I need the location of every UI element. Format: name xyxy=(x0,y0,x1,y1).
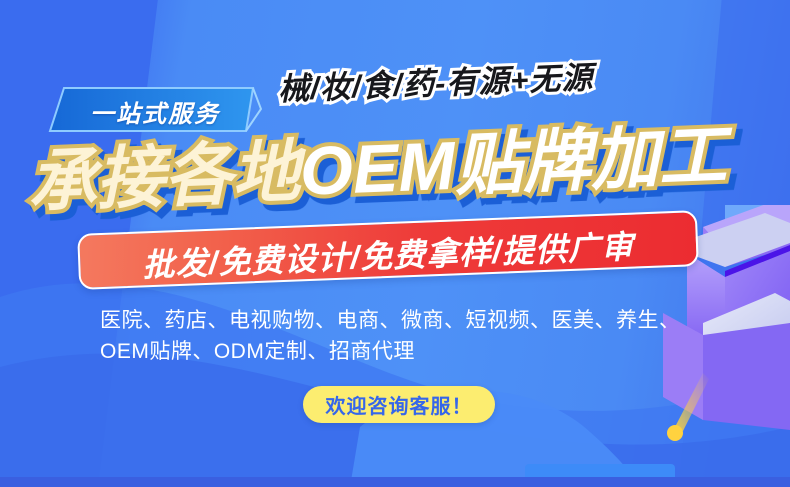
background-bottom-tab xyxy=(525,464,675,480)
one-stop-service-badge: 一站式服务 xyxy=(48,86,262,133)
headline-part-two: OEM贴牌加工 xyxy=(299,117,729,209)
background-bottom-strip xyxy=(0,477,790,487)
services-description: 医院、药店、电视购物、电商、微商、短视频、医美、养生、 OEM贴牌、ODM定制、… xyxy=(100,305,720,367)
headline-part-one: 承接各地 xyxy=(27,134,302,220)
services-description-line-2: OEM贴牌、ODM定制、招商代理 xyxy=(100,336,720,367)
category-line: 械/妆/食/药-有源+无源 xyxy=(277,52,594,109)
promo-banner: 一站式服务 械/妆/食/药-有源+无源 承接各地OEM贴牌加工 承接各地OEM贴… xyxy=(0,0,790,487)
contact-support-button[interactable]: 欢迎咨询客服！ xyxy=(303,386,495,423)
badge-label: 一站式服务 xyxy=(48,94,262,129)
contact-support-button-label: 欢迎咨询客服！ xyxy=(326,390,473,419)
services-description-line-1: 医院、药店、电视购物、电商、微商、短视频、医美、养生、 xyxy=(100,305,720,336)
offers-ribbon-label: 批发/免费设计/免费拿样/提供广审 xyxy=(79,219,696,289)
